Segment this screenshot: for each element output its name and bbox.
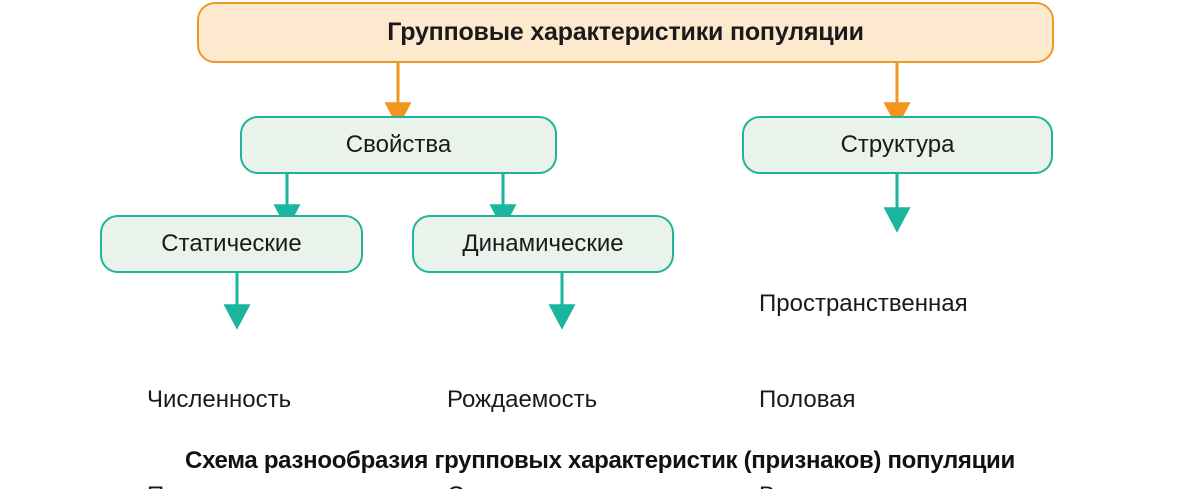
leaf-item: Рождаемость xyxy=(447,384,646,416)
leaf-item: Возрастная xyxy=(759,480,968,489)
node-root-group-characteristics: Групповые характеристики популяции xyxy=(197,2,1054,63)
leaf-item: Численность xyxy=(147,384,291,416)
node-structure: Структура xyxy=(742,116,1053,174)
node-dynamic-properties: Динамические xyxy=(412,215,674,273)
leaf-item: Смертность xyxy=(447,480,646,489)
node-static-properties: Статические xyxy=(100,215,363,273)
diagram-caption: Схема разнообразия групповых характерист… xyxy=(0,447,1200,475)
leaf-item: Пространственная xyxy=(759,288,968,320)
diagram-canvas: Групповые характеристики популяции Свойс… xyxy=(0,0,1200,489)
leaf-item: Половая xyxy=(759,384,968,416)
leaf-item: Плотность xyxy=(147,480,291,489)
node-properties: Свойства xyxy=(240,116,557,174)
